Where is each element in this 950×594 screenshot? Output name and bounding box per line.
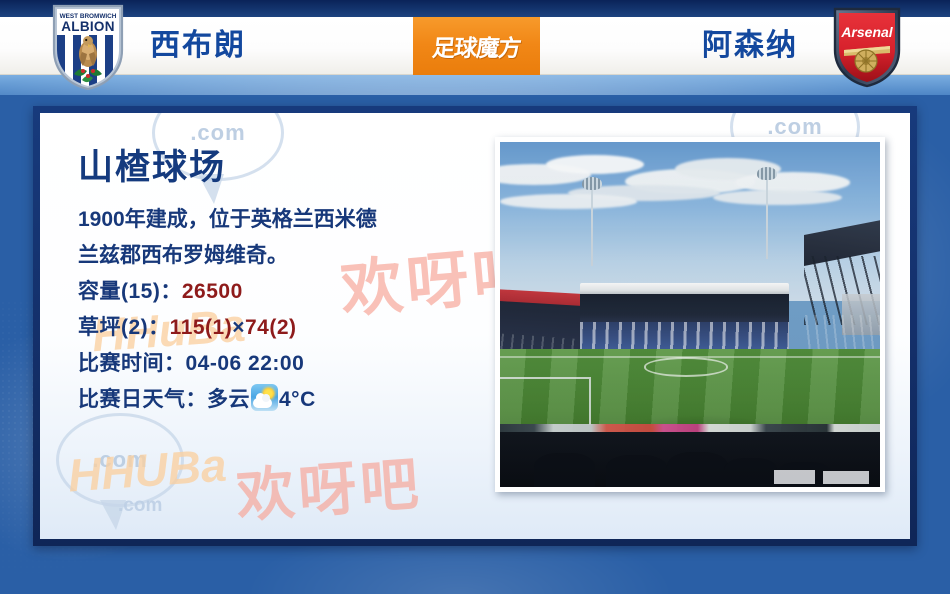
capacity-label: 容量(15)：	[78, 280, 182, 303]
pitch-width-value: 74(2)	[245, 316, 297, 339]
watermark-script-text: HHUBa	[66, 438, 228, 503]
weather-row: 比赛日天气：多云4°C	[78, 382, 508, 418]
goal-frame	[500, 377, 591, 425]
stadium-info-column: 山楂球场 1900年建成，位于英格兰西米德 兰兹郡西布罗姆维奇。 容量(15)：…	[78, 149, 508, 418]
away-team-name: 阿森纳	[702, 17, 798, 75]
info-card: .com .com .com HHuBa HuanHuBa HHUBa 欢呀吧 …	[40, 113, 910, 539]
crowd-silhouette	[500, 432, 880, 487]
info-card-frame: .com .com .com HHuBa HuanHuBa HHUBa 欢呀吧 …	[33, 106, 917, 546]
pitch-size-row: 草坪(2)：115(1)×74(2)	[78, 310, 508, 346]
watermark-dotcom-text: .com	[118, 495, 162, 517]
weather-label: 比赛日天气：	[78, 388, 207, 411]
capacity-row: 容量(15)：26500	[78, 274, 508, 310]
svg-text:ALBION: ALBION	[61, 19, 115, 34]
stadium-photo-frame	[495, 137, 885, 492]
hoarding-sign	[823, 471, 869, 484]
stadium-title: 山楂球场	[78, 149, 508, 188]
floodlight-head	[582, 177, 602, 190]
watermark-bubble: .com	[56, 413, 184, 507]
spectator-body	[534, 453, 595, 487]
match-time-value: 04-06 22:00	[186, 352, 305, 375]
floodlight-pylon	[591, 190, 593, 266]
weather-condition: 多云	[207, 388, 250, 411]
home-team-name: 西布朗	[150, 17, 246, 75]
watermark-chinese-text: 欢呀吧	[233, 437, 424, 534]
cloud	[500, 194, 637, 208]
match-time-row: 比赛时间：04-06 22:00	[78, 346, 508, 382]
spectator-body	[606, 455, 667, 487]
watermark-dotcom-text: .com	[59, 447, 181, 473]
stadium-photo	[500, 142, 880, 487]
pitch-centre-circle	[644, 357, 728, 376]
west-bromwich-albion-crest: WEST BROMWICH ALBION	[52, 4, 124, 90]
weather-temperature: 4°C	[279, 388, 316, 411]
floodlight-pylon	[766, 180, 768, 259]
spectator-body	[724, 458, 777, 487]
sun-behind-cloud-icon	[251, 384, 278, 411]
screenshot-root: WEST BROMWICH ALBION	[0, 0, 950, 594]
main-stand-shade	[580, 294, 789, 323]
pitch-length-value: 115(1)	[170, 316, 233, 339]
capacity-value: 26500	[182, 280, 243, 303]
hoarding-sign	[774, 470, 816, 484]
cloud	[546, 155, 645, 174]
pitch-size-label: 草坪(2)：	[78, 316, 170, 339]
cloud	[713, 190, 842, 206]
arsenal-crest: Arsenal	[832, 6, 902, 88]
stadium-description-line-2: 兰兹郡西布罗姆维奇。	[78, 238, 508, 274]
spectator-body	[667, 452, 728, 487]
site-logo-badge[interactable]: 足球魔方	[413, 17, 540, 75]
cloud-glyph	[253, 398, 272, 408]
match-time-label: 比赛时间：	[78, 352, 186, 375]
watermark-dotcom-text: .com	[155, 120, 281, 146]
floodlight-head	[757, 167, 777, 180]
svg-text:Arsenal: Arsenal	[840, 24, 893, 40]
site-logo-text: 足球魔方	[413, 29, 540, 63]
match-header: WEST BROMWICH ALBION	[0, 0, 950, 95]
pitch-size-separator: ×	[232, 316, 245, 339]
main-stand-upper-seating	[580, 322, 789, 350]
watermark-bubble-tail	[100, 500, 126, 530]
stadium-description-line-1: 1900年建成，位于英格兰西米德	[78, 202, 508, 238]
